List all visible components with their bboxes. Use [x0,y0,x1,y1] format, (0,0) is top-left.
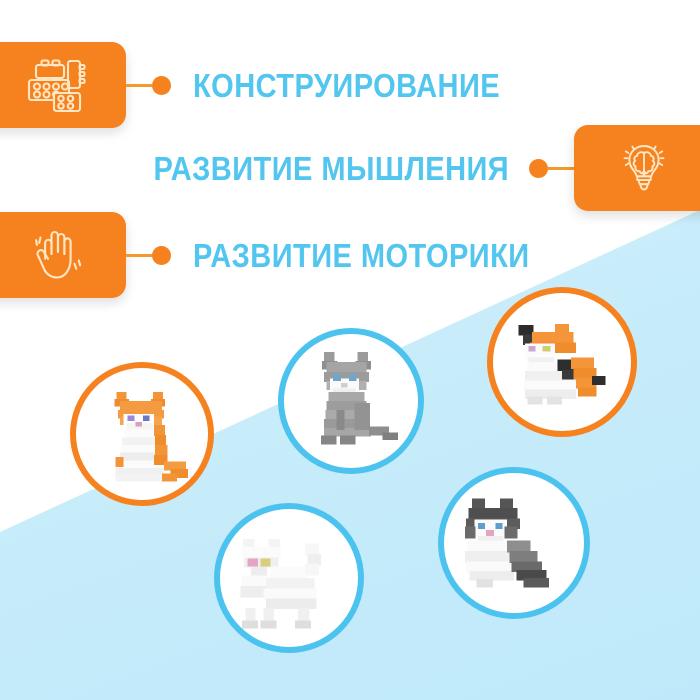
connector-motor [126,246,171,265]
feature-badge-motor [0,212,126,298]
feature-row-motor: РАЗВИТИЕ МОТОРИКИ [0,212,575,298]
product-circle-gray-cat[interactable] [278,328,424,474]
connector-dot [152,246,171,265]
calico-lying-cat-image [493,293,631,431]
connector-dot [152,76,171,95]
product-circle-calico-cat[interactable] [487,287,637,437]
feature-badge-construction [0,42,126,128]
connector-thinking [529,159,574,178]
feature-row-construction: КОНСТРУИРОВАНИЕ [0,42,542,128]
connector-construction [126,76,171,95]
waving-hand-icon [27,225,85,285]
feature-badge-thinking [574,125,700,211]
feature-label-construction: КОНСТРУИРОВАНИЕ [193,69,500,102]
product-circle-ginger-cat[interactable] [70,362,214,506]
lightbulb-brain-icon [614,138,674,198]
product-circle-white-cat[interactable] [214,503,364,653]
white-standing-cat-image [220,509,358,647]
ginger-white-sitting-cat-image [76,368,208,500]
connector-line [548,167,574,170]
building-blocks-icon [25,56,87,114]
promo-poster: КОНСТРУИРОВАНИЕ РАЗВИТИЕ МЫШЛЕНИЯ [0,0,700,700]
gray-white-lying-cat-image [444,473,584,613]
feature-label-motor: РАЗВИТИЕ МОТОРИКИ [193,239,530,272]
gray-sitting-cat-image [284,334,418,468]
feature-label-thinking: РАЗВИТИЕ МЫШЛЕНИЯ [153,152,509,185]
feature-row-thinking: РАЗВИТИЕ МЫШЛЕНИЯ [105,125,700,211]
product-circle-gray-white-cat[interactable] [438,467,590,619]
connector-dot [529,159,548,178]
connector-line [126,84,152,87]
connector-line [126,254,152,257]
